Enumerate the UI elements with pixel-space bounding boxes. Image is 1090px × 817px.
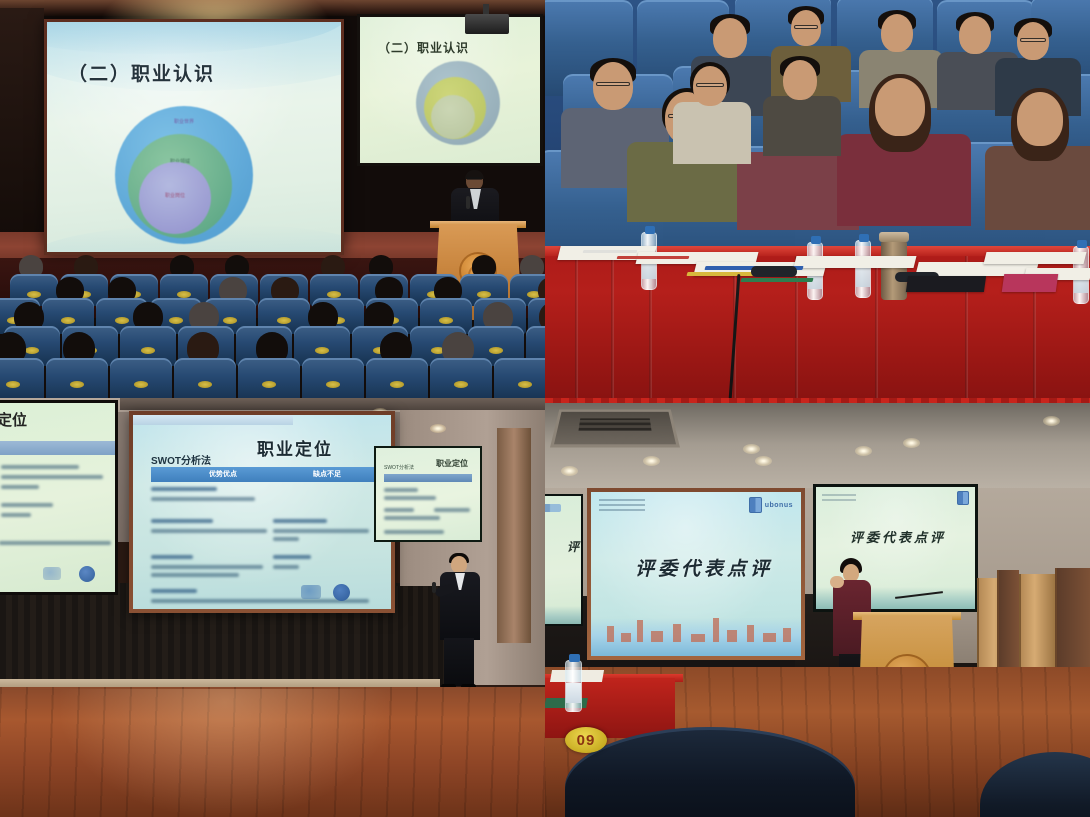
seat-number-badge <box>177 291 191 298</box>
seat-number-badge <box>134 381 148 388</box>
main-screen-frame: ubonus 评委代表点评 <box>587 488 805 660</box>
seat-number-badge <box>518 381 532 388</box>
photo-top-left-speaker-auditorium: （二）职业认识 职业世界 职业领域 职业岗位 （二）职业认识 <box>0 0 545 398</box>
swot-row-text <box>273 565 299 569</box>
table-microphone <box>751 266 797 277</box>
right-screen-text-line <box>384 496 436 500</box>
bottle-cap <box>569 654 580 662</box>
left-screen-table-header <box>0 441 115 455</box>
right-screen-swot-label: SWOT分析法 <box>384 464 414 471</box>
bottle-cap <box>645 226 655 234</box>
ceiling-downlight <box>903 438 920 448</box>
swot-row-text <box>151 529 267 533</box>
ceiling-downlight <box>743 444 760 454</box>
skyline-building <box>713 618 719 642</box>
right-screen-title: 职业定位 <box>436 458 468 469</box>
skyline-building <box>637 620 643 642</box>
main-projection-screen-frame: （二）职业认识 职业世界 职业领域 职业岗位 <box>44 19 344 255</box>
skyline-building <box>607 626 614 642</box>
powerpoint-toolbar-strip <box>133 415 293 425</box>
eyeglasses <box>1020 38 1046 42</box>
seat-number-badge <box>390 381 404 388</box>
person-torso <box>673 102 751 164</box>
right-screen-text-line <box>434 508 470 512</box>
seat-number-badge <box>489 347 503 354</box>
seat-number-badge <box>27 291 41 298</box>
swot-row-text <box>273 529 369 533</box>
bottle-label <box>566 683 581 703</box>
swot-column-weaknesses: 缺点不足 <box>313 469 341 479</box>
seat-number-badge <box>454 381 468 388</box>
pen-or-ruler <box>740 278 813 282</box>
microphone <box>466 196 470 209</box>
photo-bottom-left-swot-presentation: 定位 职业定位 SWOT分析法 优势优点 缺点不足 <box>0 398 545 817</box>
presenter-legs <box>444 638 474 686</box>
left-screen-text-line <box>1 475 103 479</box>
speaker-glasses <box>467 177 482 180</box>
slide-title-career-positioning: 职业定位 <box>257 435 333 460</box>
photo-collage: （二）职业认识 职业世界 职业领域 职业岗位 （二）职业认识 <box>0 0 1090 817</box>
ceiling-downlight <box>855 446 872 456</box>
ceiling-downlight <box>643 456 660 466</box>
seat-number-badge <box>327 291 341 298</box>
auditorium-seat <box>0 358 44 398</box>
slide-brand-text-left <box>599 499 645 511</box>
diagram-label-inner: 职业岗位 <box>139 192 211 199</box>
left-screen-logo-b <box>79 566 95 582</box>
swot-table-header: 优势优点 缺点不足 <box>151 467 377 482</box>
right-screen-text-line <box>384 516 440 520</box>
side-projection-screen-frame: （二）职业认识 <box>357 14 543 166</box>
swot-row-label <box>273 519 327 523</box>
left-screen-text-line <box>1 465 79 469</box>
swot-row-label <box>273 555 311 559</box>
seat-number-badge <box>315 347 329 354</box>
swot-row-label <box>151 555 193 559</box>
water-bottle <box>855 240 871 298</box>
ceiling-beam <box>120 398 545 410</box>
auditorium-seat <box>494 358 545 398</box>
floor-reflection <box>60 689 390 817</box>
person-head <box>875 78 925 136</box>
auditorium-seat <box>302 358 364 398</box>
eyeglasses <box>696 83 724 87</box>
person-head <box>713 18 747 58</box>
swot-row-text <box>151 565 263 569</box>
slide-title-judge-comments: 评委代表点评 <box>635 554 773 581</box>
table-drape-fold <box>575 256 578 398</box>
bottle-label <box>856 265 870 287</box>
ceiling-downlight <box>561 466 578 476</box>
person-head <box>1017 92 1063 146</box>
skyline-building <box>673 624 681 642</box>
doorway <box>497 428 531 643</box>
slide-label-swot-method: SWOT分析法 <box>151 452 211 467</box>
skyline-building <box>621 633 631 642</box>
auditorium-seat <box>46 358 108 398</box>
seat-number-badge <box>223 317 237 324</box>
presenter-microphone <box>432 582 436 593</box>
seat-number-badge: 09 <box>565 727 607 753</box>
slide-title-career-awareness: （二）职业认识 <box>68 59 215 86</box>
right-screen-table-header <box>384 474 472 482</box>
main-screen-swot: 职业定位 SWOT分析法 优势优点 缺点不足 <box>133 415 391 609</box>
seat-number-badge <box>70 381 84 388</box>
right-screen-frame: 职业定位 SWOT分析法 <box>374 446 482 542</box>
paper-document <box>794 256 917 268</box>
slide-logo-b <box>333 584 350 601</box>
seat-number-badge <box>262 381 276 388</box>
swot-row-label <box>151 487 217 491</box>
bottle-cap <box>1077 240 1087 248</box>
book-logo-icon <box>749 497 762 513</box>
side-slide-brand-text <box>822 492 856 501</box>
left-screen-text-line <box>1 503 53 507</box>
person-head <box>783 60 817 100</box>
bottle-cap <box>811 236 821 244</box>
photo-bottom-right-judge-comments: 评 ubonus 评委代表点评 <box>545 398 1090 817</box>
diagram-circle-inner: 职业岗位 <box>139 162 211 234</box>
left-cropped-screen-frame: 评 <box>545 494 583 626</box>
side-diagram-circle-inner <box>431 95 475 139</box>
swot-row-label <box>151 519 213 523</box>
swot-row-text <box>273 537 299 541</box>
seat-number-badge <box>439 317 453 324</box>
main-screen-judge-comments: ubonus 评委代表点评 <box>591 492 801 656</box>
skyline-building <box>747 625 754 642</box>
pen-or-ruler <box>583 250 638 253</box>
auditorium-seat <box>366 358 428 398</box>
bottle-cap <box>859 234 869 242</box>
right-screen-swot: 职业定位 SWOT分析法 <box>376 448 480 540</box>
left-screen-skyline <box>545 606 581 624</box>
seat-number-text: 09 <box>577 732 596 749</box>
right-screen-text-line <box>384 530 444 534</box>
seat-number-badge <box>115 317 129 324</box>
seat-number-badge <box>198 381 212 388</box>
left-screen-text-line <box>0 541 111 545</box>
skyline-building <box>763 633 776 642</box>
presenter-head <box>451 556 467 573</box>
right-screen-text-line <box>384 488 418 492</box>
seat-number-badge <box>326 381 340 388</box>
ceiling-downlight <box>1043 416 1060 426</box>
judge-speaker-hand <box>830 576 844 588</box>
table-drape-fold <box>611 256 614 398</box>
left-screen-text-line <box>1 485 39 489</box>
seat-number-badge <box>277 317 291 324</box>
left-screen-brand-logo <box>545 504 561 512</box>
auditorium-seat <box>238 358 300 398</box>
table-drape-fold <box>875 256 878 398</box>
auditorium-seat <box>174 358 236 398</box>
seat-number-badge <box>25 347 39 354</box>
photo-top-right-judges-panel <box>545 0 1090 398</box>
pen-or-ruler <box>617 256 690 259</box>
left-screen-title-fragment-2: 评 <box>567 538 579 555</box>
swot-column-strengths: 优势优点 <box>209 469 237 479</box>
left-screen-title-fragment: 定位 <box>0 409 27 430</box>
person-head <box>881 14 913 52</box>
skyline-building <box>651 631 663 642</box>
skyline-building <box>727 630 737 642</box>
pencil-case <box>1002 274 1059 292</box>
swot-row-text <box>151 573 239 577</box>
side-slide-title: 评委代表点评 <box>850 527 946 546</box>
side-projection-screen: （二）职业认识 <box>360 17 540 163</box>
paper-document <box>984 252 1087 264</box>
swot-row-text <box>151 497 255 501</box>
seat-number-badge <box>477 291 491 298</box>
skyline-building <box>783 628 791 642</box>
side-slide-title: （二）职业认识 <box>378 39 469 56</box>
left-screen-frame: 定位 <box>0 400 118 595</box>
thermos-flask <box>881 240 907 300</box>
side-slide-book-logo-icon <box>957 491 969 505</box>
brand-name-text: ubonus <box>765 502 793 509</box>
seat-number-badge <box>141 347 155 354</box>
auditorium-seat <box>110 358 172 398</box>
eyeglasses <box>596 82 630 86</box>
ceiling-downlight <box>755 456 772 466</box>
ceiling-projector <box>465 14 509 34</box>
skyline-building <box>691 634 705 642</box>
main-projection-screen: （二）职业认识 职业世界 职业领域 职业岗位 <box>47 22 341 252</box>
slide-brand-logo-right: ubonus <box>749 497 793 513</box>
left-screen: 定位 <box>0 403 115 592</box>
seat-number-badge <box>61 317 75 324</box>
water-bottle <box>565 660 582 712</box>
auditorium-seat <box>430 358 492 398</box>
left-cropped-screen: 评 <box>545 496 581 624</box>
person-torso <box>763 96 841 156</box>
person-head <box>959 16 991 54</box>
main-screen-frame: 职业定位 SWOT分析法 优势优点 缺点不足 <box>129 411 395 613</box>
eyeglasses <box>794 25 818 29</box>
left-wall <box>0 8 44 258</box>
seat-number-badge <box>169 317 183 324</box>
notebook <box>906 276 986 292</box>
ceiling-downlight <box>430 424 446 433</box>
swot-row-label <box>151 589 197 593</box>
air-conditioning-vent <box>550 409 680 447</box>
seat-number-badge <box>6 381 20 388</box>
left-screen-logo-a <box>43 567 61 580</box>
left-screen-text-line <box>1 513 31 517</box>
audience-seating <box>0 262 545 398</box>
slide-logo-a <box>301 585 321 599</box>
right-screen-text-line <box>384 508 414 512</box>
diagram-label-outer: 职业世界 <box>115 118 253 125</box>
thermos-lid <box>879 232 909 242</box>
